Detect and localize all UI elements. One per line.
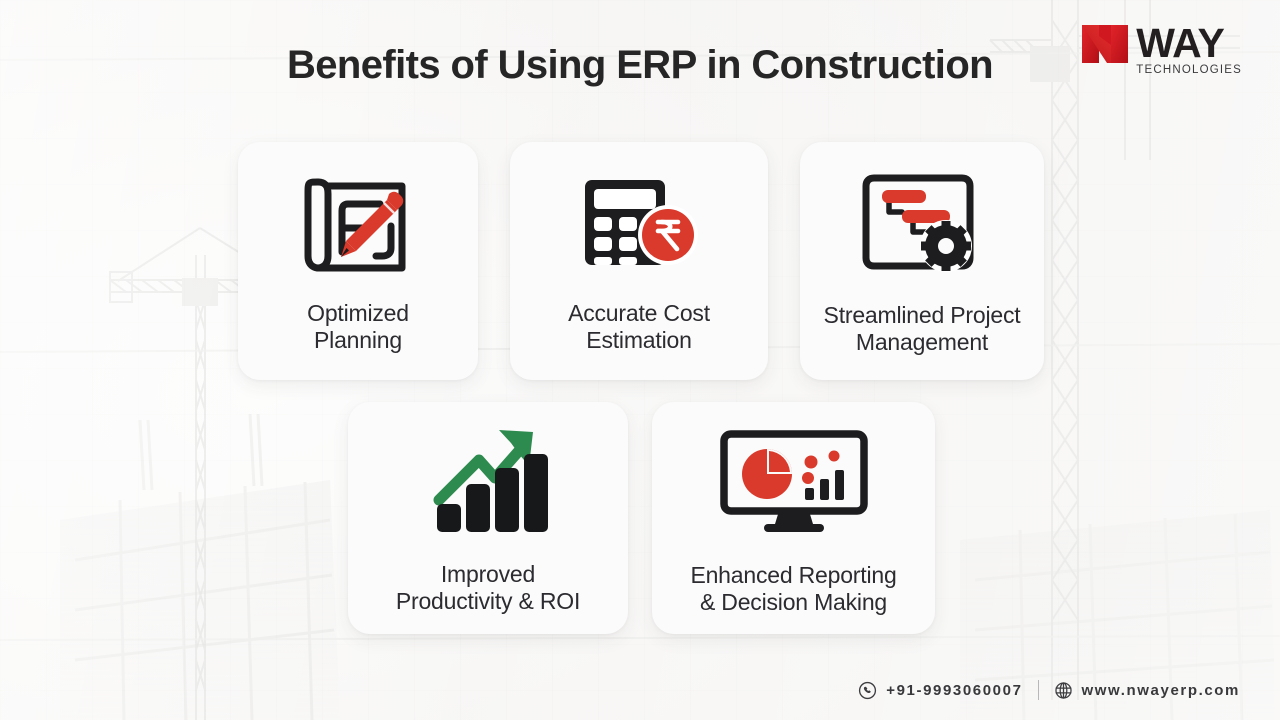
blueprint-pencil-icon: [296, 168, 420, 278]
page-title: Benefits of Using ERP in Construction: [0, 43, 1280, 88]
gantt-gear-icon: [858, 168, 986, 280]
benefit-card-accurate-cost-estimation[interactable]: Accurate Cost Estimation: [510, 142, 768, 380]
footer-phone-text: +91-9993060007: [886, 682, 1022, 699]
benefit-card-label: Improved Productivity & ROI: [396, 561, 580, 615]
benefit-card-label: Accurate Cost Estimation: [568, 300, 710, 354]
growth-bar-arrow-icon: [425, 422, 551, 537]
infographic-canvas: WAY TECHNOLOGIES Benefits of Using ERP i…: [0, 0, 1280, 720]
benefit-card-optimized-planning[interactable]: Optimized Planning: [238, 142, 478, 380]
benefit-card-label: Enhanced Reporting & Decision Making: [690, 562, 896, 616]
footer-website[interactable]: www.nwayerp.com: [1054, 681, 1240, 700]
benefit-card-improved-productivity-roi[interactable]: Improved Productivity & ROI: [348, 402, 628, 634]
benefit-card-label: Optimized Planning: [307, 300, 409, 354]
footer-phone[interactable]: +91-9993060007: [858, 681, 1022, 700]
calculator-rupee-icon: [576, 166, 702, 278]
footer-website-text: www.nwayerp.com: [1082, 682, 1240, 699]
footer-divider: [1038, 680, 1039, 700]
benefit-card-streamlined-project-management[interactable]: Streamlined Project Management: [800, 142, 1044, 380]
globe-icon: [1054, 681, 1073, 700]
benefit-card-label: Streamlined Project Management: [824, 302, 1021, 356]
benefit-card-enhanced-reporting-decision-making[interactable]: Enhanced Reporting & Decision Making: [652, 402, 935, 634]
footer-contact-bar: +91-9993060007 www.nwayerp.com: [858, 678, 1240, 702]
monitor-analytics-icon: [719, 426, 869, 536]
phone-icon: [858, 681, 877, 700]
